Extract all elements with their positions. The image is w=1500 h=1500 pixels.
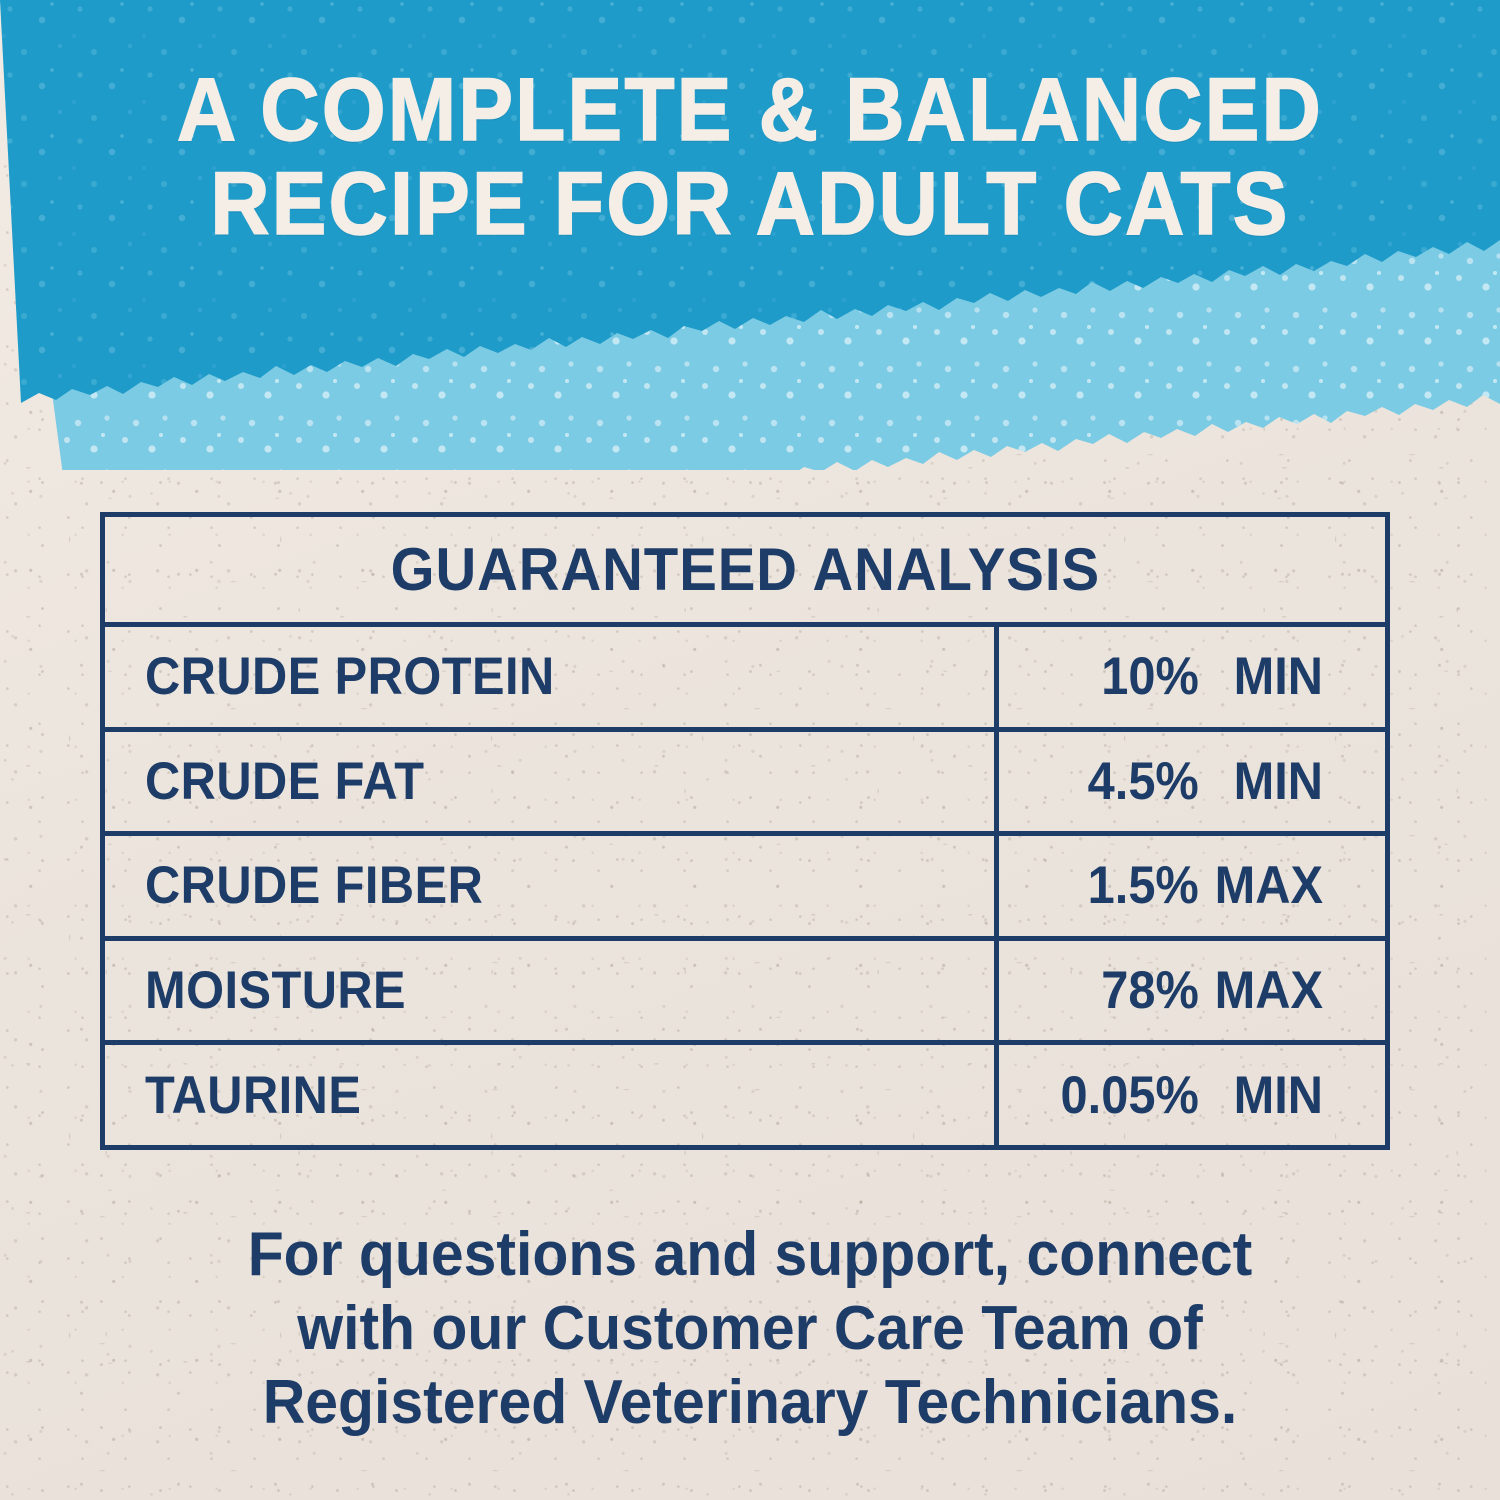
product-label-panel: A COMPLETE & BALANCED RECIPE FOR ADULT C… xyxy=(0,0,1500,1500)
nutrient-label: CRUDE FIBER xyxy=(145,855,483,916)
nutrient-value-group: 1.5% MAX xyxy=(1047,855,1323,916)
nutrient-percent: 1.5% xyxy=(1047,855,1199,916)
nutrient-value-group: 0.05% MIN xyxy=(1047,1065,1323,1126)
page-title: A COMPLETE & BALANCED RECIPE FOR ADULT C… xyxy=(60,62,1440,250)
nutrient-value-cell: 0.05% MIN xyxy=(999,1045,1385,1145)
nutrient-value-group: 4.5% MIN xyxy=(1047,751,1323,812)
nutrient-label: CRUDE FAT xyxy=(145,751,425,812)
nutrient-percent: 78% xyxy=(1047,960,1199,1021)
nutrient-label: CRUDE PROTEIN xyxy=(145,646,555,707)
table-row: CRUDE FAT 4.5% MIN xyxy=(105,732,1385,837)
nutrient-value-group: 78% MAX xyxy=(1047,960,1323,1021)
nutrient-minmax: MAX xyxy=(1199,855,1323,916)
nutrient-label-cell: CRUDE FAT xyxy=(105,732,999,832)
nutrient-label: TAURINE xyxy=(145,1065,361,1126)
nutrient-value-cell: 78% MAX xyxy=(999,941,1385,1041)
guaranteed-analysis-table: GUARANTEED ANALYSIS CRUDE PROTEIN 10% MI… xyxy=(100,512,1390,1150)
guaranteed-analysis-rows: CRUDE PROTEIN 10% MIN CRUDE FAT 4.5% MIN xyxy=(105,627,1385,1145)
customer-care-line-2: with our Customer Care Team of xyxy=(123,1292,1377,1366)
nutrient-minmax: MAX xyxy=(1199,960,1323,1021)
nutrient-minmax: MIN xyxy=(1199,1065,1323,1126)
nutrient-label: MOISTURE xyxy=(145,960,406,1021)
nutrient-label-cell: MOISTURE xyxy=(105,941,999,1041)
nutrient-minmax: MIN xyxy=(1199,646,1323,707)
nutrient-value-cell: 1.5% MAX xyxy=(999,836,1385,936)
customer-care-line-1: For questions and support, connect xyxy=(123,1218,1377,1292)
page-title-line-2: RECIPE FOR ADULT CATS xyxy=(60,156,1440,250)
nutrient-minmax: MIN xyxy=(1199,751,1323,812)
table-row: TAURINE 0.05% MIN xyxy=(105,1045,1385,1145)
page-title-line-1: A COMPLETE & BALANCED xyxy=(60,62,1440,156)
nutrient-percent: 4.5% xyxy=(1047,751,1199,812)
nutrient-value-cell: 4.5% MIN xyxy=(999,732,1385,832)
nutrient-label-cell: CRUDE PROTEIN xyxy=(105,627,999,727)
customer-care-message: For questions and support, connect with … xyxy=(123,1218,1377,1440)
torn-blue-banner: A COMPLETE & BALANCED RECIPE FOR ADULT C… xyxy=(0,0,1500,470)
table-row: CRUDE FIBER 1.5% MAX xyxy=(105,836,1385,941)
table-row: MOISTURE 78% MAX xyxy=(105,941,1385,1046)
guaranteed-analysis-heading-text: GUARANTEED ANALYSIS xyxy=(390,535,1099,604)
nutrient-percent: 0.05% xyxy=(1047,1065,1199,1126)
guaranteed-analysis-header: GUARANTEED ANALYSIS xyxy=(105,517,1385,627)
nutrient-label-cell: CRUDE FIBER xyxy=(105,836,999,936)
customer-care-line-3: Registered Veterinary Technicians. xyxy=(123,1366,1377,1440)
nutrient-value-group: 10% MIN xyxy=(1047,646,1323,707)
nutrient-value-cell: 10% MIN xyxy=(999,627,1385,727)
nutrient-percent: 10% xyxy=(1047,646,1199,707)
nutrient-label-cell: TAURINE xyxy=(105,1045,999,1145)
table-row: CRUDE PROTEIN 10% MIN xyxy=(105,627,1385,732)
